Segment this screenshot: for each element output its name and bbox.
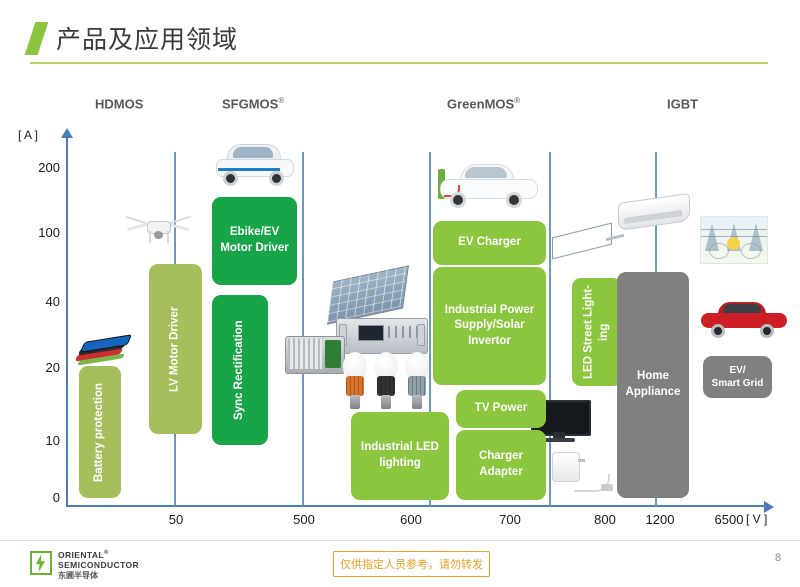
x-tick-800: 800 (575, 512, 635, 527)
electric-car-photo (213, 142, 295, 188)
psu-module-photo (285, 332, 345, 376)
block-ev-smart-grid-label: EV/ Smart Grid (712, 364, 764, 391)
confidential-notice: 仅供指定人员参考，请勿转发 (333, 551, 490, 577)
charger-adapter-photo (552, 450, 614, 494)
x-tick-50: 50 (146, 512, 206, 527)
block-industrial-led-lighting[interactable]: Industrial LED lighting (351, 412, 449, 500)
solar-panel-photo (330, 268, 408, 320)
confidential-notice-text: 仅供指定人员参考，请勿转发 (340, 556, 483, 572)
y-tick-20: 20 (14, 360, 60, 375)
block-ev-charger[interactable]: EV Charger (433, 221, 546, 265)
company-logo-text: ORIENTAL® SEMICONDUCTOR 东圃半导体 (58, 550, 139, 580)
drone-photo (127, 210, 189, 250)
block-charger-adapter[interactable]: Charger Adapter (456, 430, 546, 500)
x-axis-line (66, 505, 766, 507)
logo-chinese-name: 东圃半导体 (58, 571, 139, 581)
block-industrial-led-lighting-label: Industrial LED lighting (361, 440, 439, 471)
block-ebike-ev-motor-driver[interactable]: Ebike/EV Motor Driver (212, 197, 297, 285)
block-led-street-lighting-label: LED Street Light-ing (581, 280, 612, 384)
block-battery-protection-label: Battery protection (92, 382, 108, 481)
x-tick-500: 500 (274, 512, 334, 527)
ev-charging-car-photo (438, 163, 538, 211)
block-led-street-lighting[interactable]: LED Street Light-ing (572, 278, 622, 386)
y-tick-10: 10 (14, 433, 60, 448)
logo-line1: ORIENTAL (58, 550, 104, 560)
divider-500v (302, 152, 304, 506)
y-axis-line (66, 136, 68, 507)
y-tick-0: 0 (14, 490, 60, 505)
street-light-photo (552, 222, 624, 258)
y-tick-100: 100 (14, 225, 60, 240)
block-sync-rectification[interactable]: Sync Rectification (212, 295, 268, 445)
block-home-appliance-label: Home Appliance (626, 369, 681, 400)
smart-grid-photo (700, 216, 768, 264)
air-conditioner-photo (618, 198, 690, 230)
block-home-appliance[interactable]: Home Appliance (617, 272, 689, 498)
page-number: 8 (775, 552, 781, 564)
x-tick-600: 600 (381, 512, 441, 527)
block-ev-smart-grid[interactable]: EV/ Smart Grid (703, 356, 772, 398)
block-tv-power[interactable]: TV Power (456, 390, 546, 428)
block-charger-adapter-label: Charger Adapter (479, 449, 523, 480)
x-tick-700: 700 (480, 512, 540, 527)
divider-700v (549, 152, 551, 506)
logo-line2: SEMICONDUCTOR (58, 560, 139, 570)
block-ebike-ev-motor-driver-label: Ebike/EV Motor Driver (220, 225, 288, 256)
block-battery-protection[interactable]: Battery protection (79, 366, 121, 498)
x-axis-unit: [ V ] (746, 512, 767, 526)
block-industrial-power-supply-solar-invertor[interactable]: Industrial Power Supply/Solar Invertor (433, 267, 546, 385)
footer-divider (0, 540, 800, 541)
phone-battery-photo (76, 333, 132, 367)
led-bulbs-photo (341, 352, 437, 414)
block-ev-charger-label: EV Charger (458, 235, 521, 251)
block-sync-rectification-label: Sync Rectification (232, 320, 248, 420)
y-axis-arrow (61, 128, 73, 138)
y-tick-200: 200 (14, 160, 60, 175)
block-tv-power-label: TV Power (475, 401, 527, 417)
x-tick-1200: 1200 (630, 512, 690, 527)
block-lv-motor-driver[interactable]: LV Motor Driver (149, 264, 202, 434)
block-lv-motor-driver-label: LV Motor Driver (168, 306, 184, 391)
logo-registered-mark: ® (104, 550, 109, 556)
red-ev-car-photo (700, 300, 788, 340)
y-axis-unit: [ A ] (18, 128, 38, 142)
block-industrial-power-supply-solar-invertor-label: Industrial Power Supply/Solar Invertor (445, 303, 534, 350)
y-tick-40: 40 (14, 294, 60, 309)
rack-power-supply-photo (336, 316, 428, 356)
product-application-chart: [ A ] 200 100 40 20 10 0 50 500 600 700 … (0, 0, 800, 587)
